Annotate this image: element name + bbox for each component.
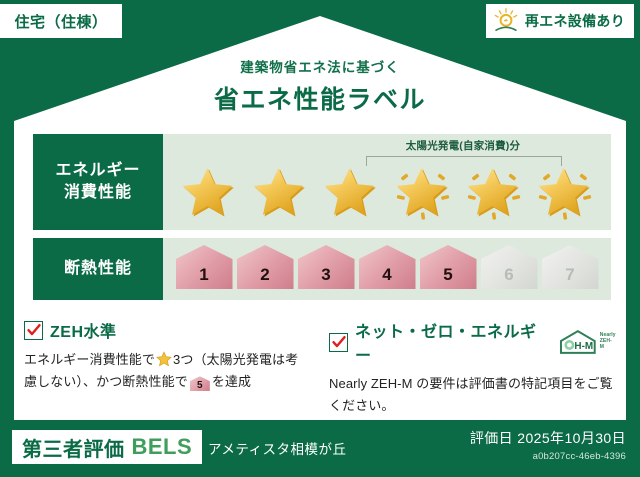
- insulation-performance-row-label: 断熱性能: [33, 238, 163, 300]
- insulation-performance-row: 断熱性能 1234567: [33, 238, 611, 300]
- checkmark-icon: [329, 333, 348, 352]
- criteria-zeh-text-2: 3つ（太陽光発電: [173, 352, 272, 367]
- title-main: 省エネ性能ラベル: [0, 80, 640, 116]
- energy-star-6: [534, 161, 596, 225]
- bels-badge-en-label: BELS: [132, 434, 193, 460]
- energy-star-2: [249, 161, 311, 225]
- criteria-zeh-body: エネルギー消費性能で3つ（太陽光発電は考慮しない）、かつ断熱性能で5を達成: [24, 349, 311, 394]
- criteria-nze-title: ネット・ゼロ・エネルギー: [355, 318, 546, 366]
- energy-label-line-1: エネルギー: [55, 160, 140, 182]
- building-type-badge-label: 住宅（住棟）: [14, 11, 107, 32]
- insulation-grade-2: 2: [237, 245, 294, 289]
- insulation-grade-4: 4: [359, 245, 416, 289]
- criteria-zeh-text-1: エネルギー消費性能で: [24, 352, 155, 367]
- energy-label-line-2: 消費性能: [64, 182, 132, 204]
- svg-text:H-M: H-M: [575, 341, 594, 352]
- checkmark-icon: [24, 321, 43, 340]
- pv-bracket-caption: 太陽光発電(自家消費)分: [348, 138, 578, 153]
- renewable-energy-badge-label: 再エネ設備あり: [525, 11, 625, 31]
- energy-performance-row: エネルギー 消費性能 太陽光発電(自家消費)分: [33, 134, 611, 230]
- insulation-grade-1: 1: [176, 245, 233, 289]
- label-title: 建築物省エネ法に基づく 省エネ性能ラベル: [0, 56, 640, 116]
- title-subtitle: 建築物省エネ法に基づく: [0, 56, 640, 76]
- building-type-badge: 住宅（住棟）: [0, 4, 122, 38]
- energy-star-rating: [163, 158, 611, 228]
- energy-star-4: [392, 161, 454, 225]
- renewable-energy-badge: 再エネ設備あり: [486, 4, 634, 38]
- insulation-performance-row-body: 1234567: [163, 238, 611, 300]
- energy-star-3: [320, 161, 382, 225]
- insulation-grade-3: 3: [298, 245, 355, 289]
- bels-badge: 第三者評価 BELS: [12, 430, 202, 464]
- criteria-nze-body: Nearly ZEH-M の要件は評価書の特記項目をご覧ください。: [329, 373, 616, 418]
- insulation-grade-7: 7: [542, 245, 599, 289]
- zeh-m-logo-sublabel: Nearly ZEH-M: [600, 333, 616, 350]
- criteria-zeh-standard: ZEH水準 エネルギー消費性能で3つ（太陽光発電は考慮しない）、かつ断熱性能で5…: [24, 318, 311, 418]
- inline-grade-badge: 5: [190, 376, 210, 391]
- energy-star-5: [463, 161, 525, 225]
- label-footer: 第三者評価 BELS アメティスタ相模が丘 評価日 2025年10月30日 a0…: [0, 420, 640, 477]
- inline-star-icon: [156, 351, 172, 367]
- criteria-net-zero-energy: ネット・ゼロ・エネルギー H-M Nearly ZEH-M Nearly ZEH…: [329, 318, 616, 418]
- criteria-zeh-header: ZEH水準: [24, 318, 311, 342]
- insulation-grade-scale: 1234567: [163, 238, 611, 300]
- criteria-zeh-title: ZEH水準: [50, 318, 117, 342]
- energy-star-1: [178, 161, 240, 225]
- zeh-m-logo: H-M Nearly ZEH-M: [558, 329, 616, 355]
- criteria-nze-header: ネット・ゼロ・エネルギー H-M Nearly ZEH-M: [329, 318, 616, 366]
- bels-badge-jp-label: 第三者評価: [22, 433, 125, 462]
- energy-performance-row-body: 太陽光発電(自家消費)分: [163, 134, 611, 230]
- building-name: アメティスタ相模が丘: [208, 438, 347, 458]
- evaluation-id: a0b207cc-46eb-4396: [470, 451, 626, 462]
- energy-performance-label: 住宅（住棟） 再エネ設備あり 建築物省エネ法に基づく 省エネ性能ラベル: [0, 0, 640, 477]
- insulation-grade-5: 5: [420, 245, 477, 289]
- evaluation-info: 評価日 2025年10月30日 a0b207cc-46eb-4396: [470, 428, 626, 462]
- sun-renewable-energy-icon: [492, 8, 520, 34]
- insulation-grade-6: 6: [481, 245, 538, 289]
- evaluation-date: 評価日 2025年10月30日: [470, 428, 626, 448]
- energy-performance-row-label: エネルギー 消費性能: [33, 134, 163, 230]
- criteria-zeh-text-4: を達成: [212, 374, 251, 389]
- insulation-label: 断熱性能: [64, 258, 132, 280]
- criteria-section: ZEH水準 エネルギー消費性能で3つ（太陽光発電は考慮しない）、かつ断熱性能で5…: [24, 318, 616, 418]
- zeh-m-logo-sub-line-2: ZEH-M: [600, 338, 612, 350]
